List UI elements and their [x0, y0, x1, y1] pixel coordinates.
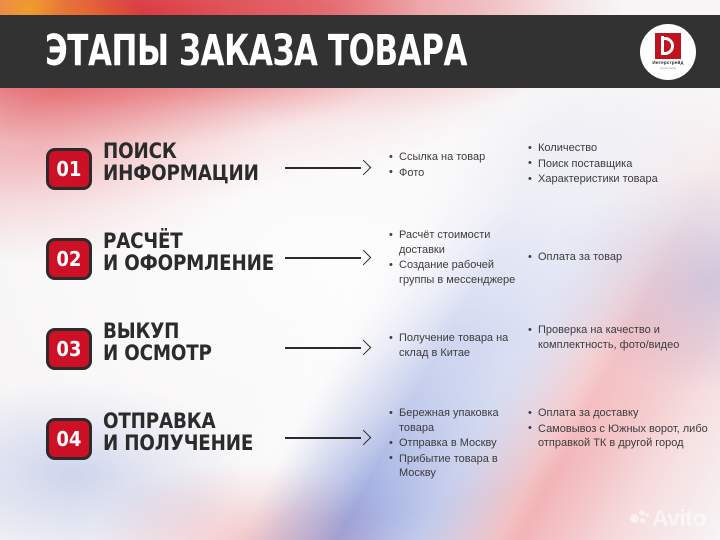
step-number-badge: 03	[46, 328, 92, 370]
list-item: Отправка в Москву	[389, 436, 521, 451]
step-title: ОТПРАВКА И ПОЛУЧЕНИЕ	[103, 410, 253, 455]
list-item: Проверка на качество и комплектность, фо…	[528, 323, 708, 352]
step-detail-column-a: Ссылка на товар Фото	[389, 150, 521, 181]
step-detail-column-a: Получение товара на склад в Китае	[389, 331, 521, 361]
list-item: Ссылка на товар	[389, 150, 521, 165]
step-row: 03 ВЫКУП И ОСМОТР Получение товара на ск…	[0, 308, 720, 398]
step-number-badge: 02	[46, 238, 92, 280]
header-bar: ЭТАПЫ ЗАКАЗА ТОВАРА Интерстрейд логистик…	[0, 15, 720, 88]
list-item: Расчёт стоимости доставки	[389, 228, 521, 257]
list-item: Количество	[528, 141, 708, 156]
step-title-line: ВЫКУП	[103, 320, 212, 342]
step-title-line: ОТПРАВКА	[103, 410, 253, 432]
brand-subtitle: логистика	[660, 66, 676, 70]
step-detail-column-b: Оплата за доставку Самовывоз с Южных вор…	[528, 406, 708, 452]
arrow-head	[356, 250, 372, 266]
flow-arrow-icon	[285, 252, 369, 264]
flow-arrow-icon	[285, 342, 369, 354]
arrow-shaft	[285, 257, 361, 259]
avito-dots-icon	[630, 510, 649, 527]
list-item: Самовывоз с Южных ворот, либо отправкой …	[528, 422, 708, 451]
step-title: ВЫКУП И ОСМОТР	[103, 320, 212, 365]
step-title-line: И ОСМОТР	[103, 342, 212, 364]
step-title-line: И ОФОРМЛЕНИЕ	[103, 252, 274, 274]
arrow-head	[356, 430, 372, 446]
flow-arrow-icon	[285, 162, 369, 174]
step-row: 04 ОТПРАВКА И ПОЛУЧЕНИЕ Бережная упаковк…	[0, 398, 720, 488]
step-number-badge: 04	[46, 418, 92, 460]
list-item: Оплата за товар	[528, 250, 708, 265]
arrow-shaft	[285, 437, 361, 439]
steps-list: 01 ПОИСК ИНФОРМАЦИИ Ссылка на товар Фото…	[0, 128, 720, 488]
step-title-line: И ПОЛУЧЕНИЕ	[103, 432, 253, 454]
step-detail-column-a: Расчёт стоимости доставки Создание рабоч…	[389, 228, 521, 288]
step-title-line: ПОИСК	[103, 140, 259, 162]
arrow-head	[356, 340, 372, 356]
list-item: Оплата за доставку	[528, 406, 708, 421]
step-detail-column-b: Количество Поиск поставщика Характеристи…	[528, 141, 708, 188]
flow-arrow-icon	[285, 432, 369, 444]
list-item: Характеристики товара	[528, 172, 708, 187]
step-number: 03	[56, 339, 81, 359]
step-title-line: ИНФОРМАЦИИ	[103, 162, 259, 184]
arrow-shaft	[285, 347, 361, 349]
step-heading-group: 04 ОТПРАВКА И ПОЛУЧЕНИЕ	[46, 398, 276, 460]
poster-canvas: ЭТАПЫ ЗАКАЗА ТОВАРА Интерстрейд логистик…	[0, 0, 720, 540]
step-title: РАСЧЁТ И ОФОРМЛЕНИЕ	[103, 230, 274, 275]
avito-watermark: Avito	[630, 507, 706, 530]
list-item: Фото	[389, 166, 521, 181]
page-title: ЭТАПЫ ЗАКАЗА ТОВАРА	[45, 30, 467, 72]
list-item: Бережная упаковка товара	[389, 406, 521, 435]
list-item: Создание рабочей группы в мессенджере	[389, 258, 521, 287]
step-number: 04	[56, 429, 81, 449]
arrow-shaft	[285, 167, 361, 169]
step-row: 02 РАСЧЁТ И ОФОРМЛЕНИЕ Расчёт стоимости …	[0, 218, 720, 308]
brand-mark-icon	[655, 33, 681, 59]
step-number-badge: 01	[46, 148, 92, 190]
step-heading-group: 02 РАСЧЁТ И ОФОРМЛЕНИЕ	[46, 218, 300, 280]
list-item: Прибытие товара в Москву	[389, 452, 521, 481]
list-item: Поиск поставщика	[528, 157, 708, 172]
brand-logo: Интерстрейд логистика	[640, 24, 696, 80]
list-item: Получение товара на склад в Китае	[389, 331, 521, 360]
step-heading-group: 03 ВЫКУП И ОСМОТР	[46, 308, 228, 370]
step-title-line: РАСЧЁТ	[103, 230, 274, 252]
step-detail-column-a: Бережная упаковка товара Отправка в Моск…	[389, 406, 521, 482]
step-detail-column-b: Оплата за товар	[528, 250, 708, 266]
step-title: ПОИСК ИНФОРМАЦИИ	[103, 140, 259, 185]
step-row: 01 ПОИСК ИНФОРМАЦИИ Ссылка на товар Фото…	[0, 128, 720, 218]
avito-wordmark: Avito	[652, 507, 706, 530]
step-heading-group: 01 ПОИСК ИНФОРМАЦИИ	[46, 128, 282, 190]
step-number: 02	[56, 249, 81, 269]
arrow-head	[356, 160, 372, 176]
step-detail-column-b: Проверка на качество и комплектность, фо…	[528, 323, 708, 353]
step-number: 01	[56, 159, 81, 179]
